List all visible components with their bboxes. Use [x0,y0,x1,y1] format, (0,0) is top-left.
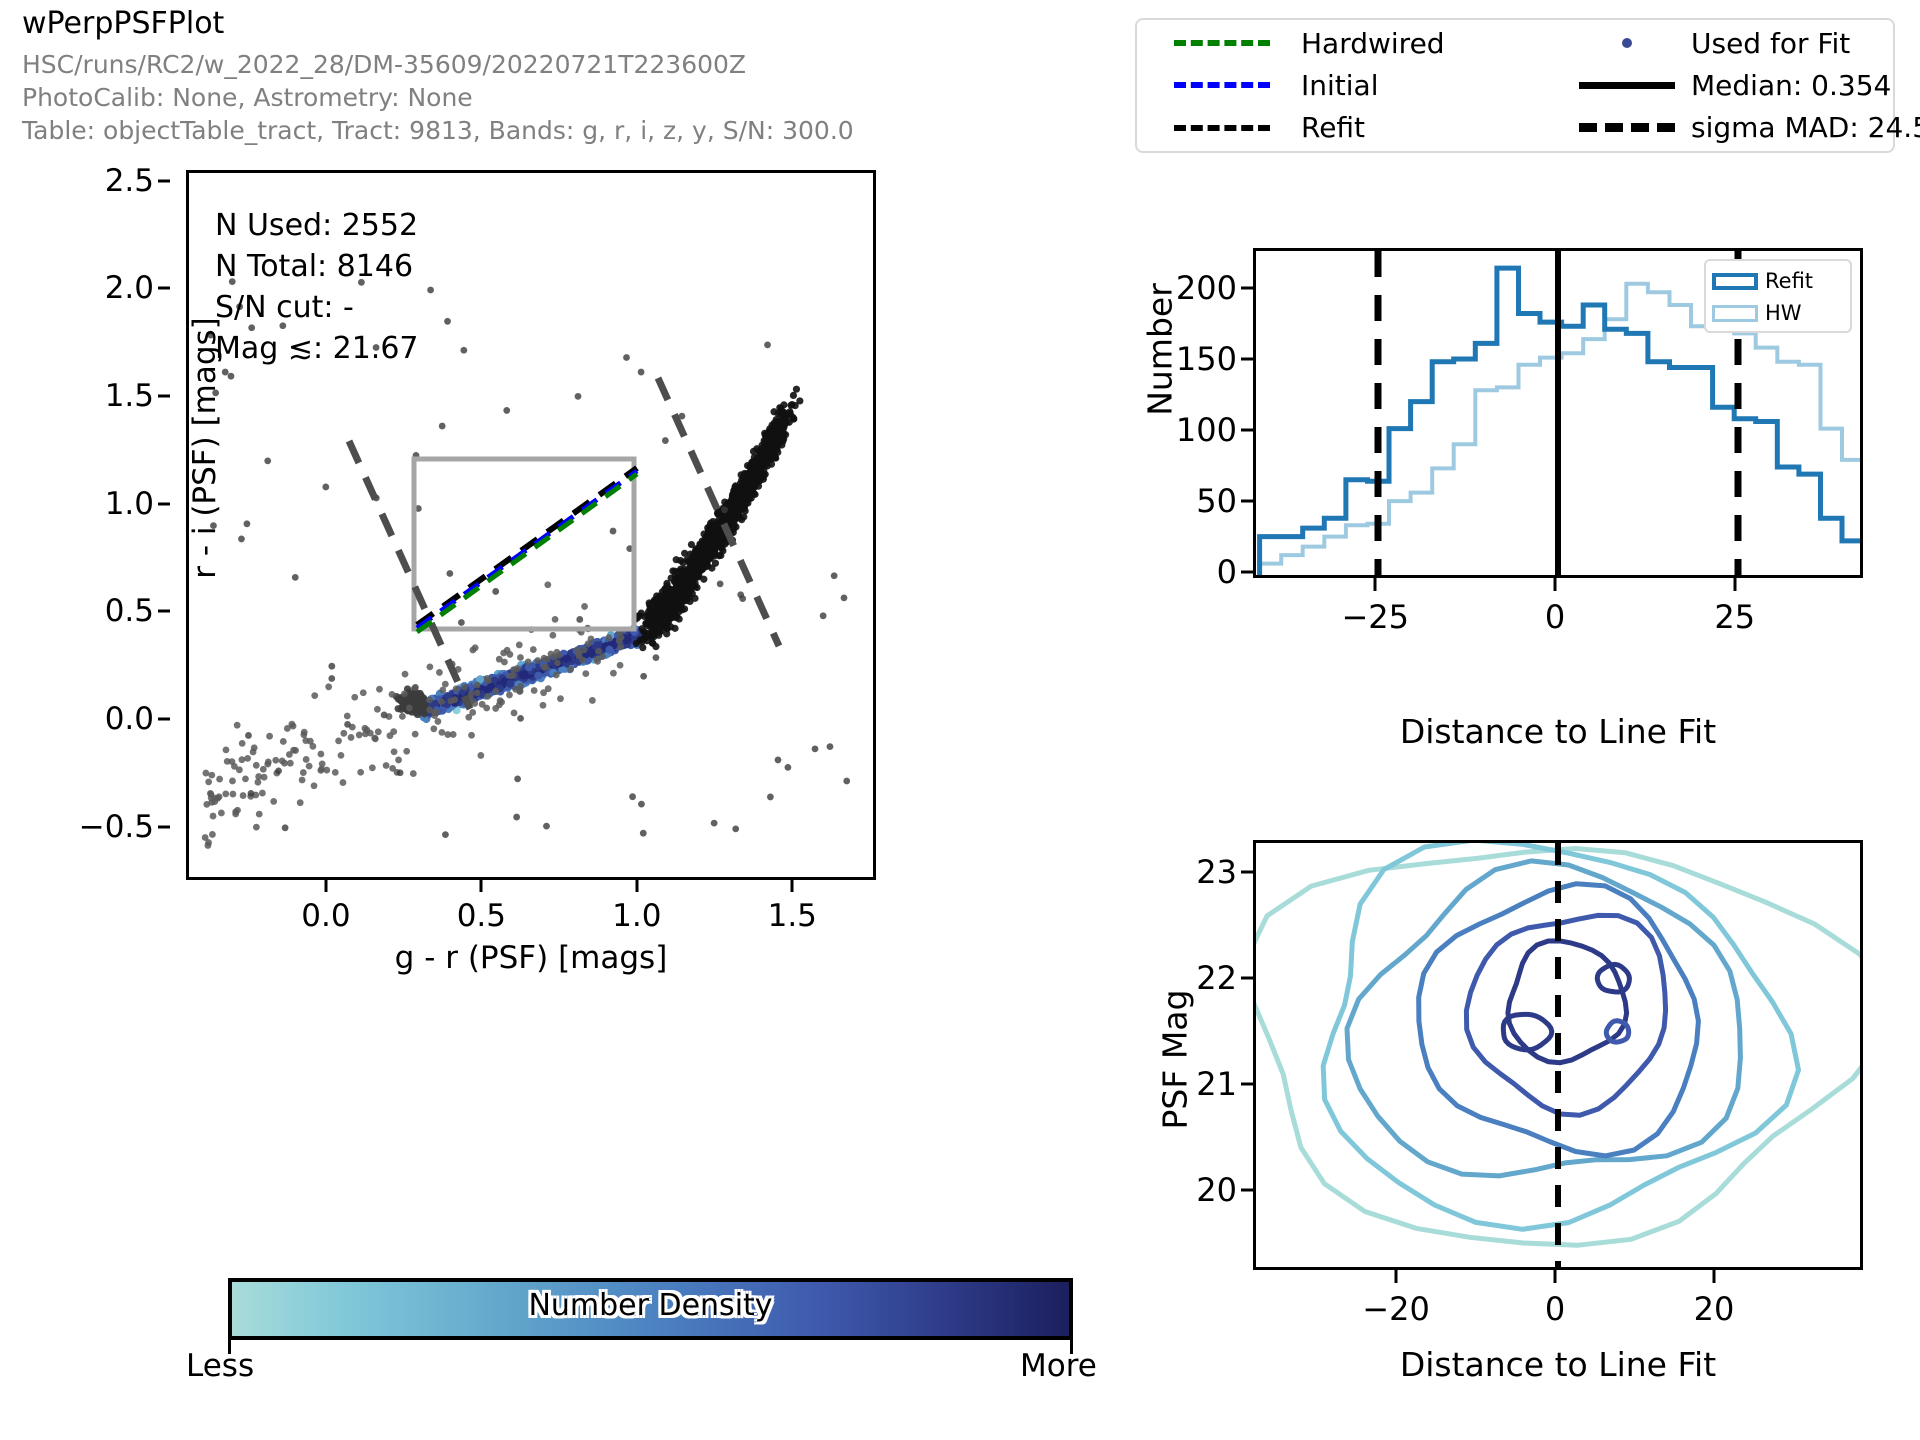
contour-xtick-0: −20 [1362,1290,1430,1328]
scatter-ytick-1-mark [158,287,170,290]
scatter-xtick-2: 1.0 [612,898,661,934]
solid-black-line-icon [1579,82,1675,89]
contour-ytick-1: 21 [1196,1065,1237,1103]
scatter-ytick-4: 0.5 [105,593,154,629]
scatter-ytick-2: 1.5 [105,378,154,414]
contour-canvas [1256,843,1860,1267]
scatter-ytick-6: −0.5 [79,809,154,845]
hist-ytick-0-mark [1241,571,1253,574]
scatter-ytick-4-mark [158,610,170,613]
scatter-xtick-3-mark [791,880,794,892]
scatter-xtick-1: 0.5 [457,898,506,934]
legend-label-hardwired: Hardwired [1297,27,1567,60]
scatter-xtick-3: 1.5 [768,898,817,934]
contour-ytick-0-mark [1241,1188,1253,1191]
metadata-line-table: Table: objectTable_tract, Tract: 9813, B… [22,114,854,147]
colorbar-low-label: Less [186,1348,254,1384]
scatter-xtick-0-mark [324,880,327,892]
scatter-xtick-0: 0.0 [301,898,350,934]
legend-label-sigma-mad: sigma MAD: 24.551 [1687,111,1887,144]
hist-ytick-1-mark [1241,499,1253,502]
contour-ytick-1-mark [1241,1082,1253,1085]
hist-ytick-1: 50 [1196,482,1237,520]
thick-dashed-black-line-icon [1579,123,1675,132]
contour-ytick-2-mark [1241,976,1253,979]
stat-sn-cut: S/N cut: - [215,287,419,328]
psfmag-distance-contour-plot[interactable] [1253,840,1863,1270]
contour-xtick-1-mark [1554,1270,1557,1283]
hist-xtick-2-mark [1733,578,1736,591]
contour-ytick-3-mark [1241,870,1253,873]
metadata-block: HSC/runs/RC2/w_2022_28/DM-35609/20220721… [22,48,854,147]
colorbar-label: Number Density [228,1288,1073,1323]
scatter-ytick-3: 1.0 [105,486,154,522]
hw-swatch-icon [1712,305,1758,322]
contour-level-5 [1466,915,1665,1115]
histogram-legend-row-hw: HW [1712,297,1844,329]
scatter-ytick-0: 2.5 [105,163,154,199]
histogram-legend-label-hw: HW [1765,301,1802,325]
hist-xtick-2: 25 [1714,598,1755,636]
hist-ytick-4: 200 [1176,269,1237,307]
metadata-line-calib: PhotoCalib: None, Astrometry: None [22,81,854,114]
scatter-ytick-0-mark [158,179,170,182]
contour-level-6 [1508,941,1627,1063]
contour-ytick-3: 23 [1196,853,1237,891]
hist-ytick-2: 100 [1176,411,1237,449]
contour-xtick-0-mark [1395,1270,1398,1283]
scatter-xtick-1-mark [480,880,483,892]
scatter-ytick-3-mark [158,502,170,505]
hist-ytick-3: 150 [1176,340,1237,378]
contour-xtick-2: 20 [1694,1290,1735,1328]
histogram-legend-row-refit: Refit [1712,265,1844,297]
legend-label-refit: Refit [1297,111,1567,144]
hist-xtick-1-mark [1554,578,1557,591]
legend-key-used-for-fit [1567,22,1687,64]
legend-label-median: Median: 0.354 [1687,69,1887,102]
histogram-x-ticks: −25025 [1253,578,1863,638]
scatter-ytick-6-mark [158,825,170,828]
scatter-ytick-2-mark [158,395,170,398]
stat-mag: Mag ≲: 21.67 [215,328,419,369]
scatter-stats-annotation: N Used: 2552 N Total: 8146 S/N cut: - Ma… [215,205,419,369]
hist-xtick-1: 0 [1545,598,1565,636]
scatter-x-axis-label: g - r (PSF) [mags] [186,940,876,976]
hist-ytick-0: 0 [1217,553,1237,591]
scatter-ytick-5-mark [158,717,170,720]
scatter-y-ticks: 2.52.01.51.00.50.0−0.5 [40,170,170,880]
dashed-black-line-icon [1174,125,1270,131]
hist-xtick-0-mark [1374,578,1377,591]
scatter-y-axis-label: r - i (PSF) [mags] [187,238,223,658]
scatter-ytick-1: 2.0 [105,270,154,306]
figure-legend: Hardwired Used for Fit Initial Median: 0… [1135,18,1895,153]
distance-histogram-plot[interactable]: Refit HW [1253,248,1863,578]
fit-line-hardwired [417,474,637,632]
metadata-line-repo: HSC/runs/RC2/w_2022_28/DM-35609/20220721… [22,48,854,81]
page-title: wPerpPSFPlot [22,6,224,41]
colorbar-high-label: More [1020,1348,1097,1384]
legend-key-sigma-mad [1567,107,1687,149]
scatter-ytick-5: 0.0 [105,701,154,737]
refit-swatch-icon [1712,273,1758,290]
contour-x-ticks: −20020 [1253,1270,1863,1330]
hist-ytick-4-mark [1241,286,1253,289]
contour-x-axis-label: Distance to Line Fit [1253,1345,1863,1384]
contour-ytick-2: 22 [1196,959,1237,997]
hist-ytick-2-mark [1241,428,1253,431]
contour-ytick-0: 20 [1196,1171,1237,1209]
histogram-legend: Refit HW [1704,259,1852,333]
legend-key-initial [1147,64,1297,106]
dashed-blue-line-icon [1174,82,1270,88]
contour-y-ticks: 20212223 [1110,840,1253,1270]
histogram-legend-label-refit: Refit [1765,269,1813,293]
stat-n-used: N Used: 2552 [215,205,419,246]
histogram-x-axis-label: Distance to Line Fit [1253,712,1863,751]
hist-ytick-3-mark [1241,357,1253,360]
scatter-x-ticks: 0.00.51.01.5 [186,880,876,940]
legend-key-median [1567,64,1687,106]
contour-xtick-2-mark [1712,1270,1715,1283]
point-marker-icon [1622,38,1632,48]
scatter-xtick-2-mark [635,880,638,892]
dashed-green-line-icon [1174,40,1270,46]
legend-key-refit [1147,107,1297,149]
histogram-y-ticks: 050100150200 [1110,248,1253,578]
hist-xtick-0: −25 [1341,598,1409,636]
legend-key-hardwired [1147,22,1297,64]
legend-label-used-for-fit: Used for Fit [1687,27,1887,60]
stat-n-total: N Total: 8146 [215,246,419,287]
contour-xtick-1: 0 [1545,1290,1565,1328]
legend-label-initial: Initial [1297,69,1567,102]
